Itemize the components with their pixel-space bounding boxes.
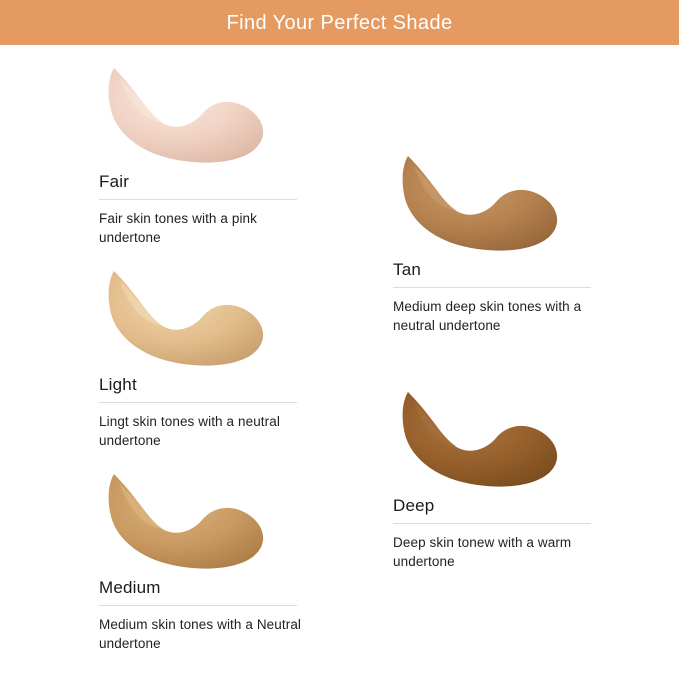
shade-card-tan[interactable]: Tan Medium deep skin tones with a neutra… bbox=[393, 150, 623, 336]
header-banner: Find Your Perfect Shade bbox=[0, 0, 679, 45]
shade-description-deep: Deep skin tonew with a warm undertone bbox=[393, 533, 608, 572]
shade-name-tan: Tan bbox=[393, 255, 623, 287]
shade-divider bbox=[393, 523, 591, 524]
foundation-swatch-icon bbox=[104, 468, 279, 573]
swatch-tan bbox=[398, 150, 573, 255]
swatch-fair bbox=[104, 62, 279, 167]
page-title: Find Your Perfect Shade bbox=[226, 13, 452, 33]
shade-divider bbox=[99, 402, 297, 403]
shade-name-deep: Deep bbox=[393, 491, 623, 523]
foundation-swatch-icon bbox=[104, 62, 279, 167]
shade-description-light: Lingt skin tones with a neutral underton… bbox=[99, 412, 314, 451]
swatch-light bbox=[104, 265, 279, 370]
foundation-swatch-icon bbox=[104, 265, 279, 370]
shade-name-light: Light bbox=[99, 370, 329, 402]
shade-description-medium: Medium skin tones with a Neutral underto… bbox=[99, 615, 314, 654]
foundation-swatch-icon bbox=[398, 386, 573, 491]
shade-card-medium[interactable]: Medium Medium skin tones with a Neutral … bbox=[99, 468, 329, 654]
shade-divider bbox=[99, 199, 297, 200]
shade-card-light[interactable]: Light Lingt skin tones with a neutral un… bbox=[99, 265, 329, 451]
shade-name-fair: Fair bbox=[99, 167, 329, 199]
shade-divider bbox=[393, 287, 591, 288]
shade-card-fair[interactable]: Fair Fair skin tones with a pink underto… bbox=[99, 62, 329, 248]
swatch-deep bbox=[398, 386, 573, 491]
foundation-swatch-icon bbox=[398, 150, 573, 255]
shade-card-deep[interactable]: Deep Deep skin tonew with a warm underto… bbox=[393, 386, 623, 572]
shade-divider bbox=[99, 605, 297, 606]
shade-description-tan: Medium deep skin tones with a neutral un… bbox=[393, 297, 608, 336]
swatch-medium bbox=[104, 468, 279, 573]
shade-name-medium: Medium bbox=[99, 573, 329, 605]
shade-description-fair: Fair skin tones with a pink undertone bbox=[99, 209, 314, 248]
